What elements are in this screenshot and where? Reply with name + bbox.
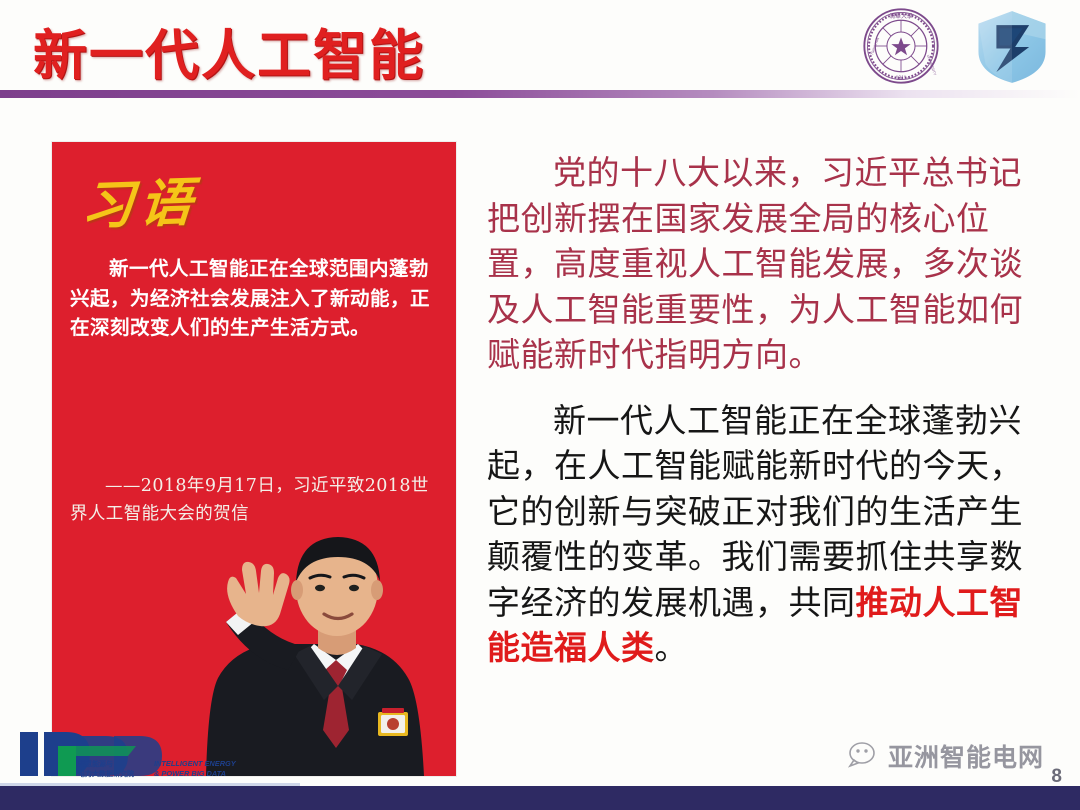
slide-header: 新一代人工智能 清華大學 <box>0 0 1080 92</box>
page-title: 新一代人工智能 <box>33 11 425 90</box>
paragraph-2-tail: 。 <box>655 628 689 667</box>
watermark-label: 亚洲智能电网 <box>888 738 1044 774</box>
paragraph-policy-context: 党的十八大以来，习近平总书记把创新摆在国家发展全局的核心位置，高度重视人工智能发… <box>487 150 1045 378</box>
svg-text:& POWER BIG DATA: & POWER BIG DATA <box>154 769 226 778</box>
footer-bar <box>0 786 1080 810</box>
slide-root: 新一代人工智能 清華大學 <box>0 0 1080 810</box>
wechat-watermark: 亚洲智能电网 <box>848 738 1044 774</box>
page-number: 8 <box>1051 766 1062 788</box>
svg-text:电力大数据研究院: 电力大数据研究院 <box>78 769 134 778</box>
poster-attribution: ——2018年9月17日，习近平致2018世界人工智能大会的贺信 <box>70 472 442 528</box>
chat-bubble-icon <box>848 740 882 773</box>
paragraph-ai-outlook: 新一代人工智能正在全球蓬勃兴起，在人工智能赋能新时代的今天，它的创新与突破正对我… <box>487 398 1045 671</box>
header-divider <box>0 90 1080 98</box>
svg-text:INTELLIGENT ENERGY: INTELLIGENT ENERGY <box>154 759 237 768</box>
tsinghua-university-logo: 清華大學 ·1911· TSINGHUA UNIVERSITY <box>862 7 940 85</box>
main-content: 党的十八大以来，习近平总书记把创新摆在国家发展全局的核心位置，高度重视人工智能发… <box>487 150 1045 671</box>
xi-quote-poster: 习语 新一代人工智能正在全球范围内蓬勃兴起，为经济社会发展注入了新动能，正在深刻… <box>52 142 456 776</box>
poster-quote-text: 新一代人工智能正在全球范围内蓬勃兴起，为经济社会发展注入了新动能，正在深刻改变人… <box>70 254 438 343</box>
iepbd-logo: 智慧能源与 电力大数据研究院 INTELLIGENT ENERGY & POWE… <box>14 726 282 786</box>
poster-brand-label: 习语 <box>79 160 201 239</box>
blue-shield-logo <box>972 8 1052 86</box>
svg-text:·1911·: ·1911· <box>894 76 909 82</box>
svg-text:智慧能源与: 智慧能源与 <box>78 759 113 768</box>
